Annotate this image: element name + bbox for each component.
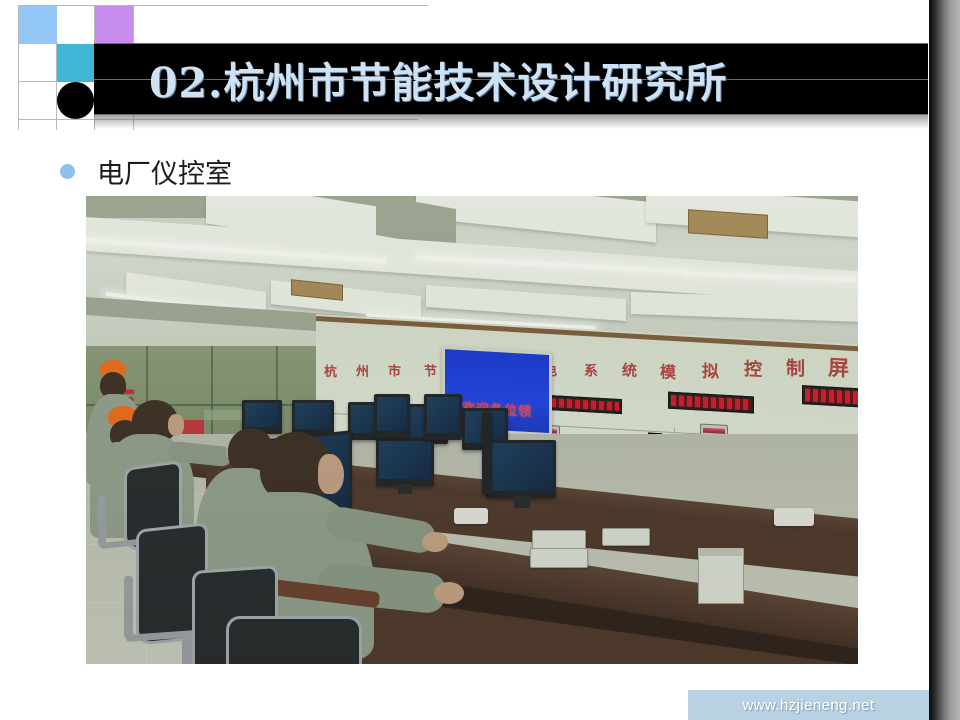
person-face bbox=[168, 414, 184, 436]
bullet-item-label: 电厂仪控室 bbox=[97, 152, 232, 191]
desk-phone bbox=[774, 508, 814, 526]
title-bar-dropshadow bbox=[94, 115, 928, 129]
page-edge-shadow bbox=[929, 0, 960, 720]
wall-equipment bbox=[698, 548, 744, 604]
footer-url-text: www.hzjieneng.net bbox=[743, 697, 875, 714]
deco-circle bbox=[57, 82, 94, 119]
desk-equipment bbox=[532, 530, 586, 550]
grid-line-horizontal bbox=[18, 81, 58, 82]
person-hand bbox=[434, 582, 464, 604]
deco-square-lightblue bbox=[19, 6, 57, 44]
monitor bbox=[292, 400, 334, 436]
page-title: 02.杭州市节能技术设计研究所 bbox=[149, 49, 727, 109]
office-chair bbox=[226, 616, 362, 664]
photo-content: 作 临 盘 杭 州 市 节 能 热 电 系 统 模 拟 控 bbox=[86, 196, 858, 664]
bullet-dot-icon bbox=[60, 164, 75, 179]
title-bar-rule-top bbox=[94, 43, 928, 44]
led-banner bbox=[668, 392, 754, 414]
content-photo: 作 临 盘 杭 州 市 节 能 热 电 系 统 模 拟 控 bbox=[86, 196, 858, 664]
desk-equipment bbox=[530, 548, 588, 568]
monitor bbox=[486, 440, 556, 498]
desk-phone bbox=[454, 508, 488, 524]
person-hand bbox=[422, 532, 448, 552]
bullet-item: 电厂仪控室 bbox=[60, 152, 232, 191]
monitor bbox=[376, 438, 434, 486]
slide-title-bar: 02.杭州市节能技术设计研究所 bbox=[94, 43, 928, 115]
person-face bbox=[318, 454, 344, 494]
led-banner bbox=[802, 385, 858, 409]
slide-canvas: 02.杭州市节能技术设计研究所 电厂仪控室 bbox=[0, 0, 960, 720]
monitor bbox=[424, 394, 462, 440]
led-banner bbox=[548, 395, 622, 414]
monitor bbox=[374, 394, 410, 438]
desk-equipment bbox=[602, 528, 650, 546]
deco-square-teal bbox=[57, 44, 95, 82]
footer-url-bar[interactable]: www.hzjieneng.net bbox=[688, 690, 929, 720]
grid-line-horizontal bbox=[18, 5, 428, 6]
deco-square-purple bbox=[95, 6, 133, 44]
